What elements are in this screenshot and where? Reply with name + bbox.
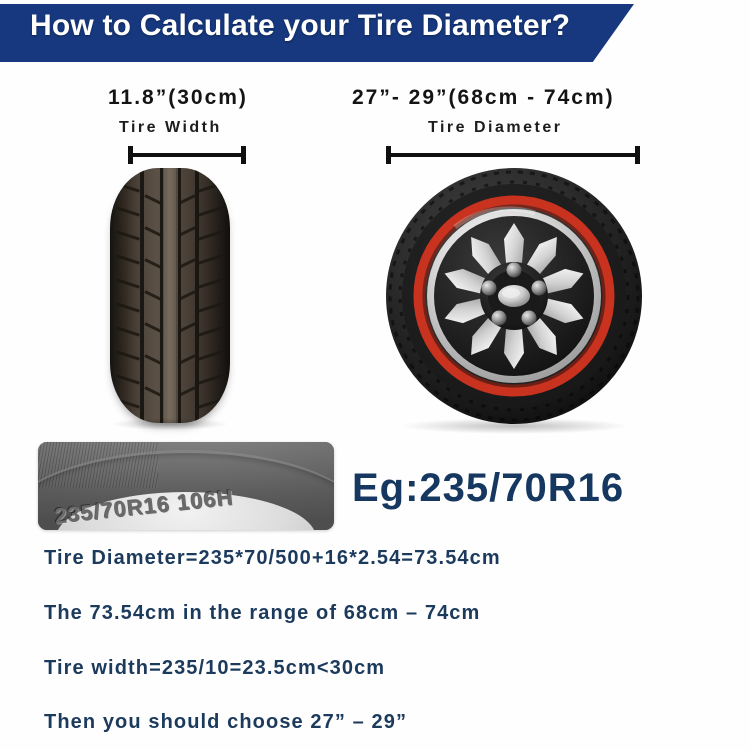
tire-width-dimension-bar-icon [128, 146, 246, 164]
tire-width-label: Tire Width [119, 119, 222, 137]
formula-line-range-check: The 73.54cm in the range of 68cm – 74cm [44, 602, 480, 625]
tread-tire-shadow [112, 418, 228, 430]
formula-line-width: Tire width=235/10=23.5cm<30cm [44, 657, 385, 680]
alloy-wheel-side-view-icon [385, 165, 643, 427]
formula-line-diameter: Tire Diameter=235*70/500+16*2.54=73.54cm [44, 547, 501, 570]
tire-diameter-dimension-bar-icon [386, 146, 640, 164]
tire-diameter-value: 27”- 29”(68cm - 74cm) [352, 86, 615, 110]
example-tire-code: Eg:235/70R16 [352, 466, 624, 511]
page-title: How to Calculate your Tire Diameter? [30, 9, 570, 43]
tire-diameter-label: Tire Diameter [428, 119, 562, 137]
formula-line-conclusion: Then you should choose 27” – 29” [44, 711, 407, 734]
wheel-shadow [400, 418, 630, 434]
tire-tread-front-view-icon [110, 168, 230, 423]
tire-sidewall-photo: 235/70R16 106H [38, 442, 334, 530]
tire-width-value: 11.8”(30cm) [108, 86, 248, 110]
tire-diameter-infographic: How to Calculate your Tire Diameter? 11.… [0, 0, 750, 750]
